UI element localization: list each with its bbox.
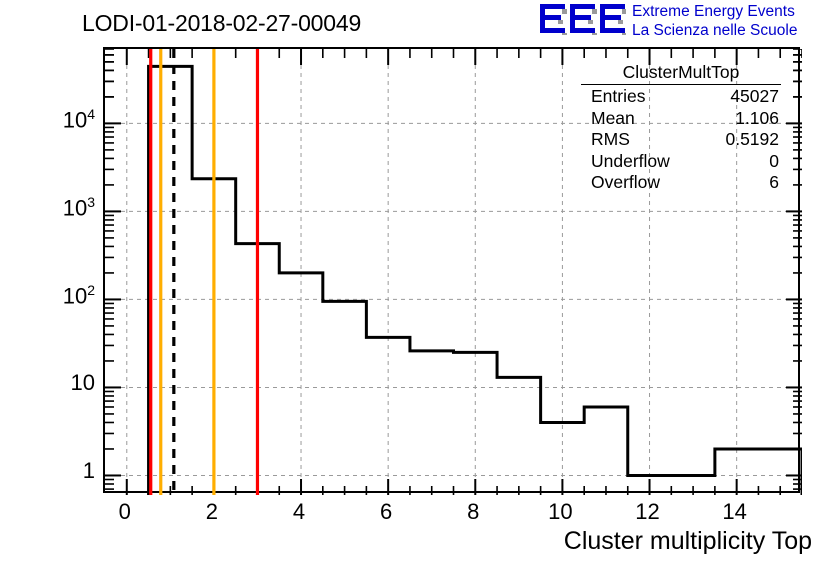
x-tick-label: 10: [535, 499, 585, 525]
x-tick-label: 4: [274, 499, 324, 525]
stats-row: Mean1.106: [577, 108, 785, 130]
stats-key: Underflow: [591, 151, 670, 173]
x-axis-title: Cluster multiplicity Top: [564, 527, 812, 556]
stats-rows: Entries45027Mean1.106RMS0.5192Underflow0…: [577, 86, 785, 194]
histogram-canvas: LODI-01-2018-02-27-00049: [0, 0, 836, 572]
y-tick-label: 10: [71, 370, 95, 396]
y-tick-label: 1: [83, 458, 95, 484]
stats-box: ClusterMultTop Entries45027Mean1.106RMS0…: [577, 62, 785, 197]
stats-value: 6: [769, 172, 779, 194]
stats-key: Overflow: [591, 172, 660, 194]
x-tick-label: 8: [448, 499, 498, 525]
x-tick-label: 2: [187, 499, 237, 525]
x-tick-label: 12: [623, 499, 673, 525]
eee-logo: Extreme Energy Events La Scienza nelle S…: [540, 2, 836, 42]
stats-value: 0: [769, 151, 779, 173]
y-tick-label: 103: [63, 194, 95, 221]
stats-row: Overflow6: [577, 172, 785, 194]
x-tick-label: 6: [361, 499, 411, 525]
y-tick-label: 102: [63, 282, 95, 309]
stats-value: 45027: [730, 86, 779, 108]
stats-row: RMS0.5192: [577, 129, 785, 151]
marker-lines: [151, 49, 258, 495]
stats-row: Underflow0: [577, 151, 785, 173]
logo-line-1: Extreme Energy Events: [632, 2, 797, 21]
logo-line-2: La Scienza nelle Scuole: [632, 21, 797, 40]
x-tick-label: 0: [100, 499, 150, 525]
y-tick-label: 104: [63, 106, 95, 133]
page-title: LODI-01-2018-02-27-00049: [82, 10, 361, 37]
stats-key: RMS: [591, 129, 630, 151]
stats-value: 0.5192: [725, 129, 779, 151]
stats-key: Mean: [591, 108, 635, 130]
stats-value: 1.106: [735, 108, 779, 130]
x-tick-label: 14: [710, 499, 760, 525]
stats-row: Entries45027: [577, 86, 785, 108]
stats-title: ClusterMultTop: [581, 62, 781, 85]
eee-logo-icon: [540, 3, 626, 35]
stats-key: Entries: [591, 86, 645, 108]
